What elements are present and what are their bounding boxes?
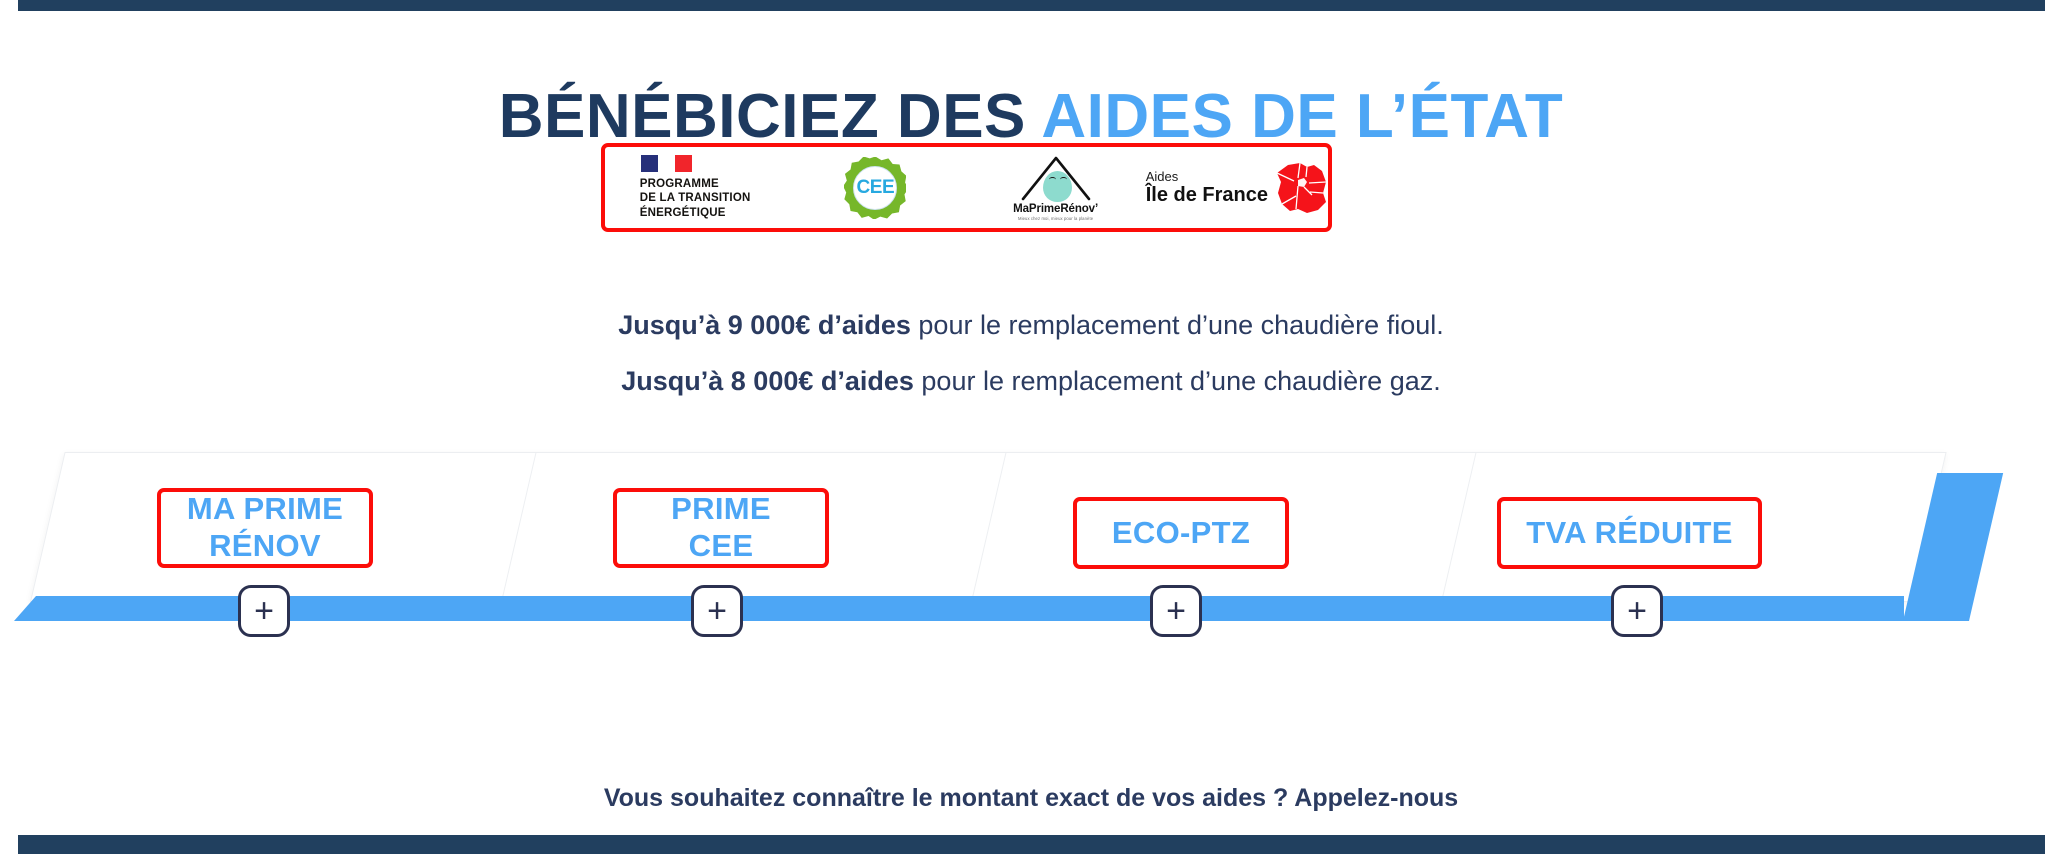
logo-cee: CEE [785,147,965,228]
aid-card-tva-reduite-line1: TVA RÉDUITE [1526,515,1733,552]
plus-icon: + [254,594,274,628]
panel-divider-2 [971,453,1006,601]
aid-card-eco-ptz-line1: ECO-PTZ [1112,515,1250,552]
aide-amount-2-bold: Jusqu’à 8 000€ d’aides [621,366,914,396]
aide-amount-line-2: Jusqu’à 8 000€ d’aides pour le remplacem… [0,366,2062,397]
logo-programme-transition-energetique: PROGRAMME DE LA TRANSITION ÉNERGÉTIQUE [605,147,785,228]
panel-divider-3 [1441,453,1476,601]
logo-cee-label: CEE [853,166,897,210]
aid-toggle-prime-cee[interactable]: + [691,585,743,637]
house-smiley-icon [1019,154,1093,201]
aid-toggle-ma-prime-renov[interactable]: + [238,585,290,637]
aid-card-prime-cee[interactable]: PRIME CEE [613,488,829,568]
logo-pte-line1: PROGRAMME [640,177,751,191]
aid-card-ma-prime-renov[interactable]: MA PRIME RÉNOV [157,488,373,568]
top-accent-bar [18,0,2045,11]
bottom-accent-bar [18,835,2045,854]
logo-maprimerenov-tagline: Mieux chez moi, mieux pour la planète [1018,216,1093,221]
partner-logo-strip: PROGRAMME DE LA TRANSITION ÉNERGÉTIQUE C… [601,143,1332,232]
aide-amount-1-bold: Jusqu’à 9 000€ d’aides [618,310,911,340]
contact-cta-text: Vous souhaitez connaître le montant exac… [0,784,2062,813]
page-title: BÉNÉBICIEZ DES AIDES DE L’ÉTAT [0,86,2062,148]
aid-toggle-tva-reduite[interactable]: + [1611,585,1663,637]
plus-icon: + [707,594,727,628]
logo-pte-line2: DE LA TRANSITION [640,191,751,205]
logo-idf-label-large: Île de France [1146,185,1268,205]
aid-card-tva-reduite[interactable]: TVA RÉDUITE [1497,497,1762,569]
aide-amount-1-rest: pour le remplacement d’une chaudière fio… [911,310,1444,340]
cee-badge-icon: CEE [844,157,906,219]
aid-card-ma-prime-renov-line1: MA PRIME [187,491,343,528]
logo-idf-label-small: Aides [1146,170,1268,184]
aid-card-prime-cee-line2: CEE [671,528,771,565]
panel-divider-1 [501,453,536,601]
page-title-light-part: AIDES DE L’ÉTAT [1041,82,1563,151]
plus-icon: + [1627,594,1647,628]
logo-maprimerenov-label: MaPrimeRénov’ [1013,203,1098,215]
page-title-dark-part: BÉNÉBICIEZ DES [499,82,1026,151]
aide-amount-2-rest: pour le remplacement d’une chaudière gaz… [914,366,1441,396]
aid-card-ma-prime-renov-line2: RÉNOV [187,528,343,565]
aid-toggle-eco-ptz[interactable]: + [1150,585,1202,637]
logo-pte-line3: ÉNERGÉTIQUE [640,206,751,220]
logo-maprimerenov: MaPrimeRénov’ Mieux chez moi, mieux pour… [965,147,1145,228]
logo-aides-ile-de-france: Aides Île de France [1146,147,1328,228]
plus-icon: + [1166,594,1186,628]
aid-card-eco-ptz[interactable]: ECO-PTZ [1073,497,1289,569]
ile-de-france-map-icon [1274,162,1328,214]
french-flag-icon [641,155,692,172]
aid-card-prime-cee-line1: PRIME [671,491,771,528]
aide-amount-line-1: Jusqu’à 9 000€ d’aides pour le remplacem… [0,310,2062,341]
